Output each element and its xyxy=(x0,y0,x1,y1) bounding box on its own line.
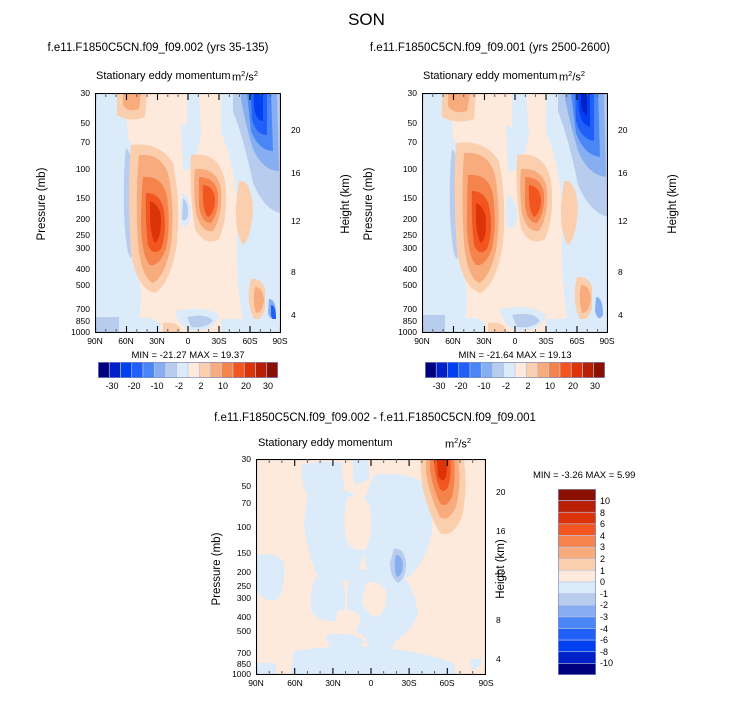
plot-area-top-left xyxy=(95,93,281,333)
minmax-top-right: MIN = -21.64 MAX = 19.13 xyxy=(422,350,608,361)
yaxis-right-label-top-left: Height (km) xyxy=(340,144,352,264)
minmax-bottom-diff: MIN = -3.26 MAX = 5.99 xyxy=(533,470,635,481)
units-label-top-left: m2/s2 xyxy=(232,69,258,84)
units-label-top-right: m2/s2 xyxy=(559,69,585,84)
variable-label-bottom: Stationary eddy momentum xyxy=(258,437,393,449)
plot-area-top-right xyxy=(422,93,608,333)
colorbar-top-right xyxy=(425,362,605,378)
colorbar-bottom-diff xyxy=(558,489,596,675)
units-label-bottom: m2/s2 xyxy=(445,436,471,451)
panel-title-top-right: f.e11.F1850C5CN.f09_f09.001 (yrs 2500-26… xyxy=(350,42,630,54)
panel-title-bottom-diff: f.e11.F1850C5CN.f09_f09.002 - f.e11.F185… xyxy=(155,412,595,424)
panel-title-top-left: f.e11.F1850C5CN.f09_f09.002 (yrs 35-135) xyxy=(28,42,288,54)
yaxis-right-label-top-right: Height (km) xyxy=(667,144,679,264)
yaxis-left-label-top-right: Pressure (mb) xyxy=(363,144,375,264)
variable-label-top-right: Stationary eddy momentum xyxy=(423,70,558,82)
variable-label-top-left: Stationary eddy momentum xyxy=(96,70,231,82)
colorbar-top-left xyxy=(98,362,278,378)
figure-suptitle: SON xyxy=(0,10,733,30)
plot-area-bottom-diff xyxy=(256,459,486,675)
minmax-top-left: MIN = -21.27 MAX = 19.37 xyxy=(95,350,281,361)
yaxis-left-label-top-left: Pressure (mb) xyxy=(36,144,48,264)
